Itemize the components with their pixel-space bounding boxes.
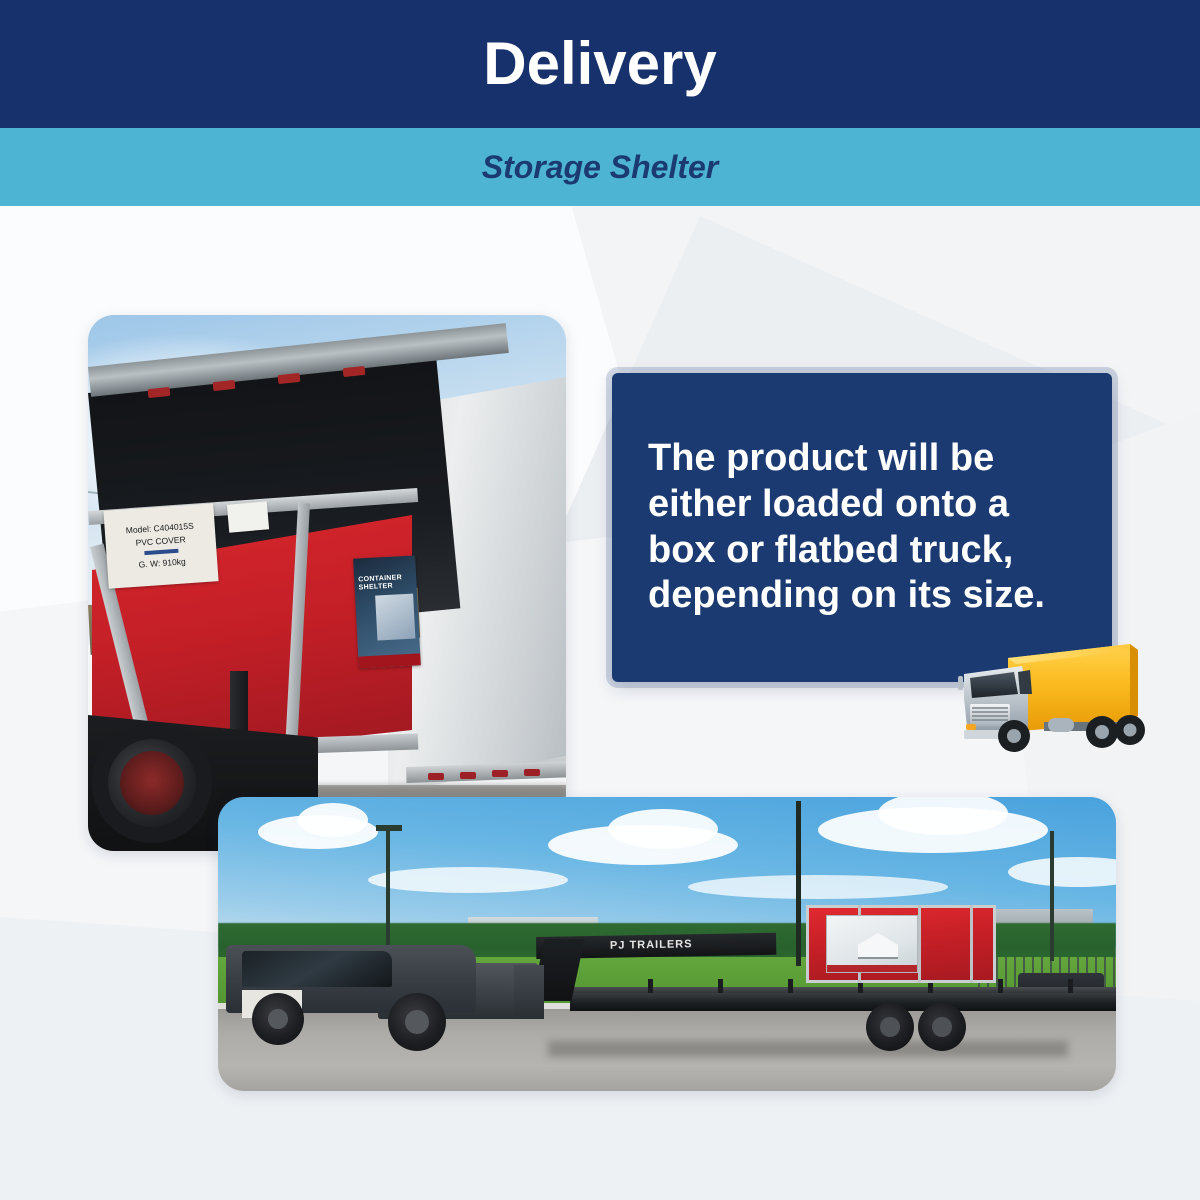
flatbed-trailer-photo: PJ TRAILERS (218, 797, 1116, 1091)
delivery-truck-icon (952, 636, 1152, 762)
trailer-stake (1068, 979, 1073, 993)
trailer-brand-text: PJ TRAILERS (610, 938, 693, 951)
pickup-truck-window (242, 951, 392, 987)
poster-image (375, 594, 415, 641)
trailer-wheel-hub (880, 1017, 900, 1037)
forklift-wheel-hub (120, 751, 184, 815)
tail-light (492, 770, 508, 777)
cloud (298, 803, 368, 837)
shipping-label: Model: C404015S PVC COVER G. W: 910kg (103, 503, 218, 588)
tail-light (428, 773, 444, 780)
page-title: Delivery (483, 34, 717, 94)
ground-shadow (548, 1041, 1068, 1057)
trailer-stake (718, 979, 723, 993)
tail-light (524, 769, 540, 776)
cloud (368, 867, 568, 893)
crate-frame (970, 905, 973, 983)
label-barcode (144, 549, 178, 555)
poster-title: CONTAINER SHELTER (358, 573, 417, 592)
utility-pole (796, 801, 801, 966)
subtitle-band: Storage Shelter (0, 128, 1200, 206)
light-pole-head (376, 825, 402, 831)
container-shelter-poster: CONTAINER SHELTER (353, 555, 421, 668)
pickup-truck-tailgate (514, 965, 544, 1019)
cloud (688, 875, 948, 899)
cloud (608, 809, 718, 849)
trailer-stake (998, 979, 1003, 993)
pickup-wheel-hub (405, 1010, 429, 1034)
trailer-stake (648, 979, 653, 993)
callout-text: The product will be either loaded onto a… (648, 436, 1076, 618)
pickup-wheel-hub (268, 1009, 288, 1029)
crate-small-tag (227, 501, 269, 532)
tail-light (460, 772, 476, 779)
delivery-slide: Delivery Storage Shelter (0, 0, 1200, 1200)
label-cover: PVC COVER (135, 533, 186, 549)
page-subtitle: Storage Shelter (482, 151, 719, 183)
box-truck-loading-photo: Model: C404015S PVC COVER G. W: 910kg CO… (88, 315, 566, 851)
trailer-stake (788, 979, 793, 993)
light-pole (1050, 831, 1054, 961)
crate-poster-footer-bar (827, 965, 917, 972)
crate-frame (918, 905, 921, 983)
trailer-wheel-hub (932, 1017, 952, 1037)
label-weight: G. W: 910kg (138, 556, 186, 572)
title-band: Delivery (0, 0, 1200, 128)
trailer-deck (570, 993, 1116, 1011)
